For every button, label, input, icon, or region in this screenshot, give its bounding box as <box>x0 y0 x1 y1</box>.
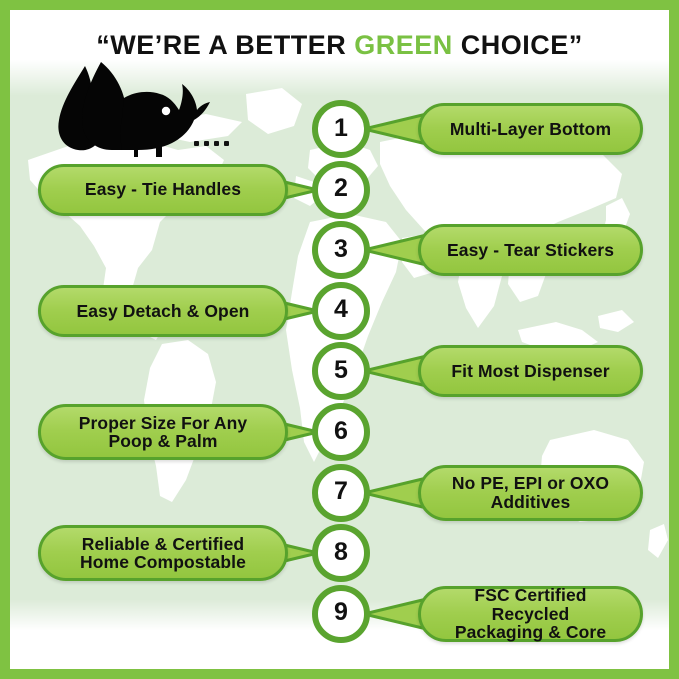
headline-part-2: CHOICE” <box>453 30 583 60</box>
feature-number-6[interactable]: 6 <box>312 403 370 461</box>
feature-number-text: 3 <box>334 237 348 262</box>
feature-number-2[interactable]: 2 <box>312 161 370 219</box>
feature-number-3[interactable]: 3 <box>312 221 370 279</box>
feature-number-text: 1 <box>334 116 348 141</box>
feature-number-text: 7 <box>334 479 348 504</box>
feature-label-line: Multi-Layer Bottom <box>450 120 611 138</box>
feature-number-1[interactable]: 1 <box>312 100 370 158</box>
feature-label-line: FSC Certified Recycled <box>435 586 626 623</box>
feature-label-7[interactable]: No PE, EPI or OXOAdditives <box>418 465 643 521</box>
feature-label-2[interactable]: Easy - Tie Handles <box>38 164 288 216</box>
feature-label-3[interactable]: Easy - Tear Stickers <box>418 224 643 276</box>
feature-label-line: Additives <box>491 493 571 511</box>
feature-label-4[interactable]: Easy Detach & Open <box>38 285 288 337</box>
feature-label-5[interactable]: Fit Most Dispenser <box>418 345 643 397</box>
feature-label-line: Packaging & Core <box>455 623 606 641</box>
feature-label-line: Easy - Tear Stickers <box>447 241 614 259</box>
feature-number-text: 2 <box>334 176 348 201</box>
feature-label-line: Poop & Palm <box>108 432 217 450</box>
logo-dots-icon <box>194 141 229 146</box>
feature-number-7[interactable]: 7 <box>312 464 370 522</box>
feature-number-text: 8 <box>334 540 348 565</box>
feature-label-6[interactable]: Proper Size For AnyPoop & Palm <box>38 404 288 460</box>
feature-number-text: 6 <box>334 419 348 444</box>
feature-number-text: 9 <box>334 600 348 625</box>
headline-highlight: GREEN <box>354 30 453 60</box>
feature-label-line: Easy Detach & Open <box>77 302 250 320</box>
feature-number-4[interactable]: 4 <box>312 282 370 340</box>
feature-label-1[interactable]: Multi-Layer Bottom <box>418 103 643 155</box>
rhino-logo-icon <box>38 58 218 158</box>
feature-label-line: Proper Size For Any <box>79 414 248 432</box>
page-title: “WE’RE A BETTER GREEN CHOICE” <box>10 30 669 61</box>
feature-label-8[interactable]: Reliable & CertifiedHome Compostable <box>38 525 288 581</box>
feature-label-line: Home Compostable <box>80 553 246 571</box>
feature-number-8[interactable]: 8 <box>312 524 370 582</box>
feature-number-9[interactable]: 9 <box>312 585 370 643</box>
feature-label-line: Easy - Tie Handles <box>85 180 241 198</box>
feature-label-line: No PE, EPI or OXO <box>452 474 609 492</box>
feature-number-text: 5 <box>334 358 348 383</box>
headline-part-1: “WE’RE A BETTER <box>96 30 354 60</box>
feature-number-text: 4 <box>334 297 348 322</box>
feature-label-line: Reliable & Certified <box>82 535 244 553</box>
feature-label-9[interactable]: FSC Certified RecycledPackaging & Core <box>418 586 643 642</box>
feature-label-line: Fit Most Dispenser <box>451 362 609 380</box>
infographic-poster: “WE’RE A BETTER GREEN CHOICE” Multi-Laye… <box>0 0 679 679</box>
feature-number-5[interactable]: 5 <box>312 342 370 400</box>
